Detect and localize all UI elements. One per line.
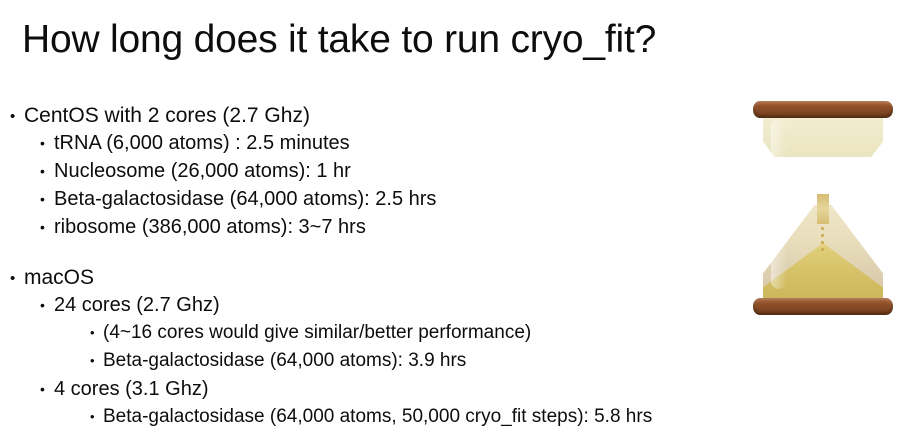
page-title: How long does it take to run cryo_fit? <box>22 16 656 64</box>
bullet-marker-icon: • <box>90 326 103 339</box>
bullet-item-label: Beta-galactosidase (64,000 atoms): 3.9 h… <box>103 350 466 372</box>
bullet-item: •(4~16 cores would give similar/better p… <box>0 322 740 350</box>
bullet-item: •4 cores (3.1 Ghz) <box>0 378 740 406</box>
hourglass-sand-drop <box>821 234 824 237</box>
bullet-item: •Beta-galactosidase (64,000 atoms): 3.9 … <box>0 350 740 378</box>
slide-canvas: How long does it take to run cryo_fit? •… <box>0 0 900 448</box>
bullet-item-label: 4 cores (3.1 Ghz) <box>54 378 209 401</box>
bullet-marker-icon: • <box>40 220 54 234</box>
bullet-item: •Nucleosome (26,000 atoms): 1 hr <box>0 160 740 188</box>
bullet-marker-icon: • <box>90 354 103 367</box>
hourglass-sand-drop <box>821 241 824 244</box>
bullet-item: •Beta-galactosidase (64,000 atoms, 50,00… <box>0 406 740 434</box>
bullet-item: •ribosome (386,000 atoms): 3~7 hrs <box>0 216 740 244</box>
bullet-marker-icon: • <box>10 109 24 124</box>
hourglass-icon <box>753 99 893 317</box>
bullet-marker-icon: • <box>10 271 24 286</box>
bullet-marker-icon: • <box>90 410 103 423</box>
bullet-list: •CentOS with 2 cores (2.7 Ghz)•tRNA (6,0… <box>0 104 740 434</box>
bullet-item: •CentOS with 2 cores (2.7 Ghz) <box>0 104 740 132</box>
bullet-item-label: ribosome (386,000 atoms): 3~7 hrs <box>54 216 366 239</box>
hourglass-bottom-sand-mound <box>763 243 883 300</box>
bullet-item: •tRNA (6,000 atoms) : 2.5 minutes <box>0 132 740 160</box>
bullet-marker-icon: • <box>40 136 54 150</box>
hourglass-neck <box>817 194 829 224</box>
bullet-item-label: CentOS with 2 cores (2.7 Ghz) <box>24 104 310 128</box>
bullet-item-label: Beta-galactosidase (64,000 atoms, 50,000… <box>103 406 652 428</box>
bullet-marker-icon: • <box>40 192 54 206</box>
bullet-item-label: tRNA (6,000 atoms) : 2.5 minutes <box>54 132 350 155</box>
bullet-marker-icon: • <box>40 298 54 312</box>
bullet-item-label: Nucleosome (26,000 atoms): 1 hr <box>54 160 351 183</box>
bullet-item-label: (4~16 cores would give similar/better pe… <box>103 322 531 344</box>
bullet-item: •24 cores (2.7 Ghz) <box>0 294 740 322</box>
bullet-marker-icon: • <box>40 164 54 178</box>
hourglass-sand-drop <box>821 248 824 251</box>
bullet-marker-icon: • <box>40 382 54 396</box>
bullet-item: •Beta-galactosidase (64,000 atoms): 2.5 … <box>0 188 740 216</box>
hourglass-sand-drop <box>821 227 824 230</box>
bullet-item-label: 24 cores (2.7 Ghz) <box>54 294 220 317</box>
hourglass-top-empty-space <box>763 115 883 157</box>
bullet-item-label: macOS <box>24 266 94 290</box>
bullet-item: •macOS <box>0 266 740 294</box>
bullet-item-label: Beta-galactosidase (64,000 atoms): 2.5 h… <box>54 188 436 211</box>
hourglass-bottom-cap <box>753 298 893 315</box>
hourglass-top-cap <box>753 101 893 118</box>
bullet-group-gap <box>0 244 740 266</box>
